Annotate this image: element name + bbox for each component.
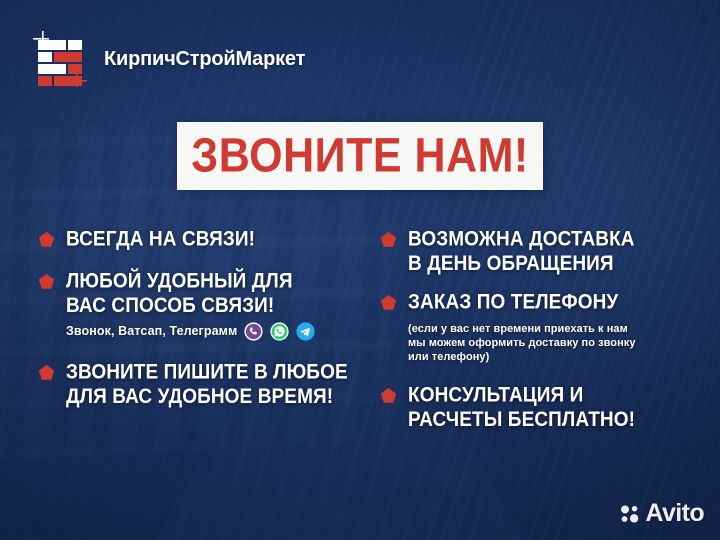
feature-note: (если у вас нет времени приехать к нам м… [408,322,710,364]
messenger-list: Звонок, Ватсап, Телеграмм [66,322,368,341]
red-pentagon-bullet-icon [380,231,397,248]
whatsapp-icon[interactable] [270,322,289,341]
feature-title: ВОЗМОЖНА ДОСТАВКА В ДЕНЬ ОБРАЩЕНИЯ [408,228,710,276]
feature-item: ВСЕГДА НА СВЯЗИ! [38,228,368,250]
feature-item: ЛЮБОЙ УДОБНЫЙ ДЛЯ ВАС СПОСОБ СВЯЗИ! Звон… [38,270,368,341]
feature-column-right: ВОЗМОЖНА ДОСТАВКА В ДЕНЬ ОБРАЩЕНИЯ ЗАКАЗ… [380,228,710,428]
messenger-list-label: Звонок, Ватсап, Телеграмм [66,324,237,338]
red-pentagon-bullet-icon [38,273,55,290]
feature-item: КОНСУЛЬТАЦИЯ И РАСЧЕТЫ БЕСПЛАТНО! [380,384,710,427]
feature-column-left: ВСЕГДА НА СВЯЗИ! ЛЮБОЙ УДОБНЫЙ ДЛЯ ВАС С… [38,228,368,404]
feature-title: ЗВОНИТЕ ПИШИТЕ В ЛЮБОЕ ДЛЯ ВАС УДОБНОЕ В… [66,361,368,409]
feature-title: ВСЕГДА НА СВЯЗИ! [66,228,368,252]
feature-title: ЗАКАЗ ПО ТЕЛЕФОНУ [408,291,710,315]
headline-banner: ЗВОНИТЕ НАМ! [177,122,543,190]
brand-name: КирпичСтройМаркет [104,48,305,71]
feature-item: ЗВОНИТЕ ПИШИТЕ В ЛЮБОЕ ДЛЯ ВАС УДОБНОЕ В… [38,361,368,404]
viber-icon[interactable] [244,322,263,341]
telegram-icon[interactable] [296,322,315,341]
red-pentagon-bullet-icon [380,294,397,311]
brand-logo: КирпичСтройМаркет [30,28,305,90]
avito-dots-icon [620,504,640,524]
brick-wall-logo-icon [30,28,92,90]
red-pentagon-bullet-icon [380,387,397,404]
headline-text: ЗВОНИТЕ НАМ! [191,132,528,180]
red-pentagon-bullet-icon [38,231,55,248]
avito-wordmark: Avito [645,501,704,526]
feature-title: КОНСУЛЬТАЦИЯ И РАСЧЕТЫ БЕСПЛАТНО! [408,384,710,432]
feature-item: ВОЗМОЖНА ДОСТАВКА В ДЕНЬ ОБРАЩЕНИЯ [380,228,710,271]
advertisement-poster: КирпичСтройМаркет ЗВОНИТЕ НАМ! ВСЕГДА НА… [0,0,720,540]
red-pentagon-bullet-icon [38,364,55,381]
feature-title: ЛЮБОЙ УДОБНЫЙ ДЛЯ ВАС СПОСОБ СВЯЗИ! [66,270,368,318]
poster-content: КирпичСтройМаркет ЗВОНИТЕ НАМ! ВСЕГДА НА… [0,0,720,540]
feature-item: ЗАКАЗ ПО ТЕЛЕФОНУ (если у вас нет времен… [380,291,710,364]
avito-watermark: Avito [620,501,704,526]
